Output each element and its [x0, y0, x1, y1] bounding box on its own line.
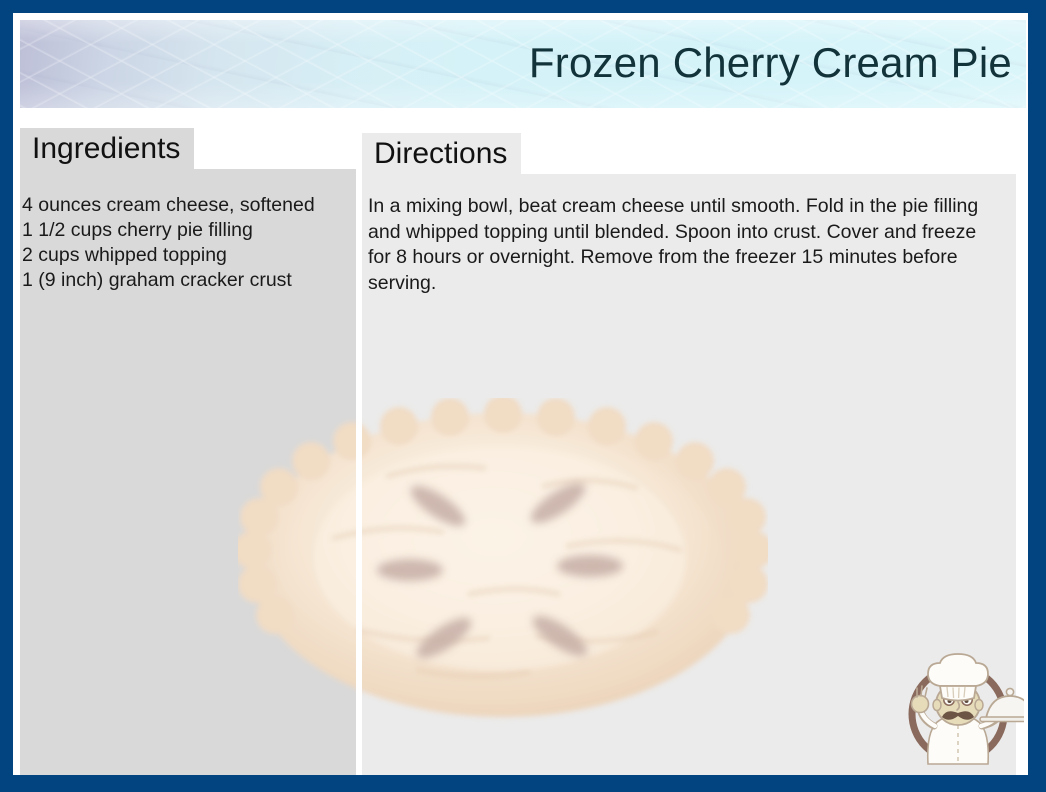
page-title: Frozen Cherry Cream Pie — [529, 41, 1012, 85]
list-item: 4 ounces cream cheese, softened — [22, 193, 352, 218]
tab-directions[interactable]: Directions — [362, 133, 521, 175]
chef-logo — [892, 642, 1024, 774]
recipe-card: Frozen Cherry Cream Pie — [0, 0, 1046, 792]
panel-divider — [356, 169, 362, 776]
list-item: 1 1/2 cups cherry pie filling — [22, 218, 352, 243]
list-item: 1 (9 inch) graham cracker crust — [22, 268, 352, 293]
card-border-left — [0, 0, 13, 792]
list-item: 2 cups whipped topping — [22, 243, 352, 268]
tab-ingredients[interactable]: Ingredients — [20, 128, 194, 170]
card-border-top — [0, 0, 1046, 13]
header-banner: Frozen Cherry Cream Pie — [20, 20, 1026, 108]
card-border-right — [1028, 0, 1046, 792]
chef-hat-icon — [928, 654, 988, 701]
ingredients-list: 4 ounces cream cheese, softened 1 1/2 cu… — [22, 193, 352, 293]
directions-text: In a mixing bowl, beat cream cheese unti… — [368, 194, 1002, 296]
card-border-bottom — [0, 775, 1046, 792]
